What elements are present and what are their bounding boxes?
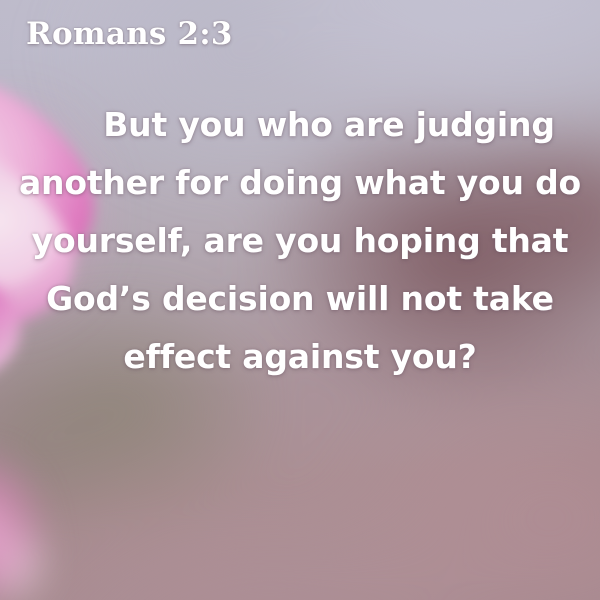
verse-line: God’s decision will not take bbox=[18, 270, 582, 328]
flower-lower-blur bbox=[0, 430, 110, 600]
verse-image-canvas: Romans 2:3 But you who are judging anoth… bbox=[0, 0, 600, 600]
verse-line: another for doing what you do bbox=[18, 154, 582, 212]
verse-line: But you who are judging bbox=[18, 96, 582, 154]
verse-line: effect against you? bbox=[18, 328, 582, 386]
scripture-reference: Romans 2:3 bbox=[26, 19, 233, 50]
verse-text-block: But you who are judging another for doin… bbox=[0, 96, 600, 386]
verse-line: yourself, are you hoping that bbox=[18, 212, 582, 270]
